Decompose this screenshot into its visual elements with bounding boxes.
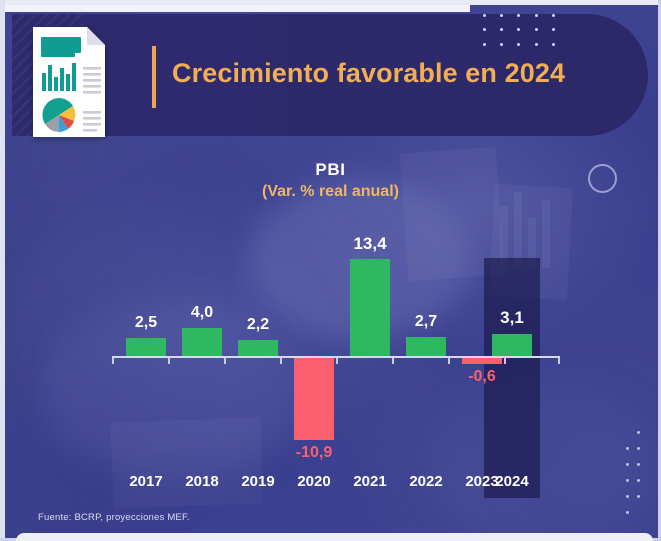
- bar-value-2019: 2,2: [228, 316, 288, 334]
- bar-2024[interactable]: [492, 334, 532, 356]
- bar-value-2020: -10,9: [284, 444, 344, 462]
- x-label-2020: 2020: [284, 473, 344, 490]
- axis-tick: [558, 358, 560, 364]
- bar-2020[interactable]: [294, 358, 334, 440]
- slide-canvas: Crecimiento favorable en 2024 PBI (Var. …: [0, 0, 661, 541]
- bar-value-2017: 2,5: [116, 314, 176, 332]
- chart-axis-line: [112, 356, 560, 358]
- bar-2021[interactable]: [350, 259, 390, 356]
- bar-2023[interactable]: [462, 358, 502, 364]
- x-label-2018: 2018: [172, 473, 232, 490]
- axis-tick: [168, 358, 170, 364]
- axis-tick: [448, 358, 450, 364]
- dot-grid-top: [476, 8, 562, 52]
- axis-tick: [504, 358, 506, 364]
- x-label-2017: 2017: [116, 473, 176, 490]
- bar-value-2021: 13,4: [338, 234, 402, 254]
- chart-subtitle: (Var. % real anual): [0, 183, 661, 201]
- x-label-2022: 2022: [396, 473, 456, 490]
- chart-plot-area: 2,5 2017 4,0 2018 2,2 2019 -10,9 2020 13…: [112, 230, 560, 500]
- axis-tick: [336, 358, 338, 364]
- decorative-circle-icon: [588, 164, 617, 193]
- header-title: Crecimiento favorable en 2024: [172, 58, 565, 89]
- dot-grid-bottom: [622, 424, 644, 520]
- next-slide-edge: [16, 533, 653, 541]
- bar-2019[interactable]: [238, 340, 278, 356]
- page-frame-top: [0, 0, 661, 5]
- bar-value-2018: 4,0: [172, 304, 232, 322]
- axis-tick: [224, 358, 226, 364]
- source-note: Fuente: BCRP, proyecciones MEF.: [38, 512, 190, 523]
- x-label-2024: 2024: [482, 473, 542, 490]
- bar-2022[interactable]: [406, 337, 446, 356]
- bar-2018[interactable]: [182, 328, 222, 356]
- title-divider-rule: [152, 46, 156, 108]
- bar-value-2024: 3,1: [482, 308, 542, 328]
- axis-tick: [392, 358, 394, 364]
- x-label-2019: 2019: [228, 473, 288, 490]
- bar-2017[interactable]: [126, 338, 166, 356]
- page-frame-left: [0, 0, 5, 541]
- x-label-2021: 2021: [340, 473, 400, 490]
- document-chart-icon: [33, 27, 105, 137]
- bar-value-2022: 2,7: [396, 313, 456, 331]
- axis-tick: [112, 358, 114, 364]
- bar-value-2023: -0,6: [452, 368, 512, 386]
- chart-title: PBI: [0, 160, 661, 180]
- axis-tick: [280, 358, 282, 364]
